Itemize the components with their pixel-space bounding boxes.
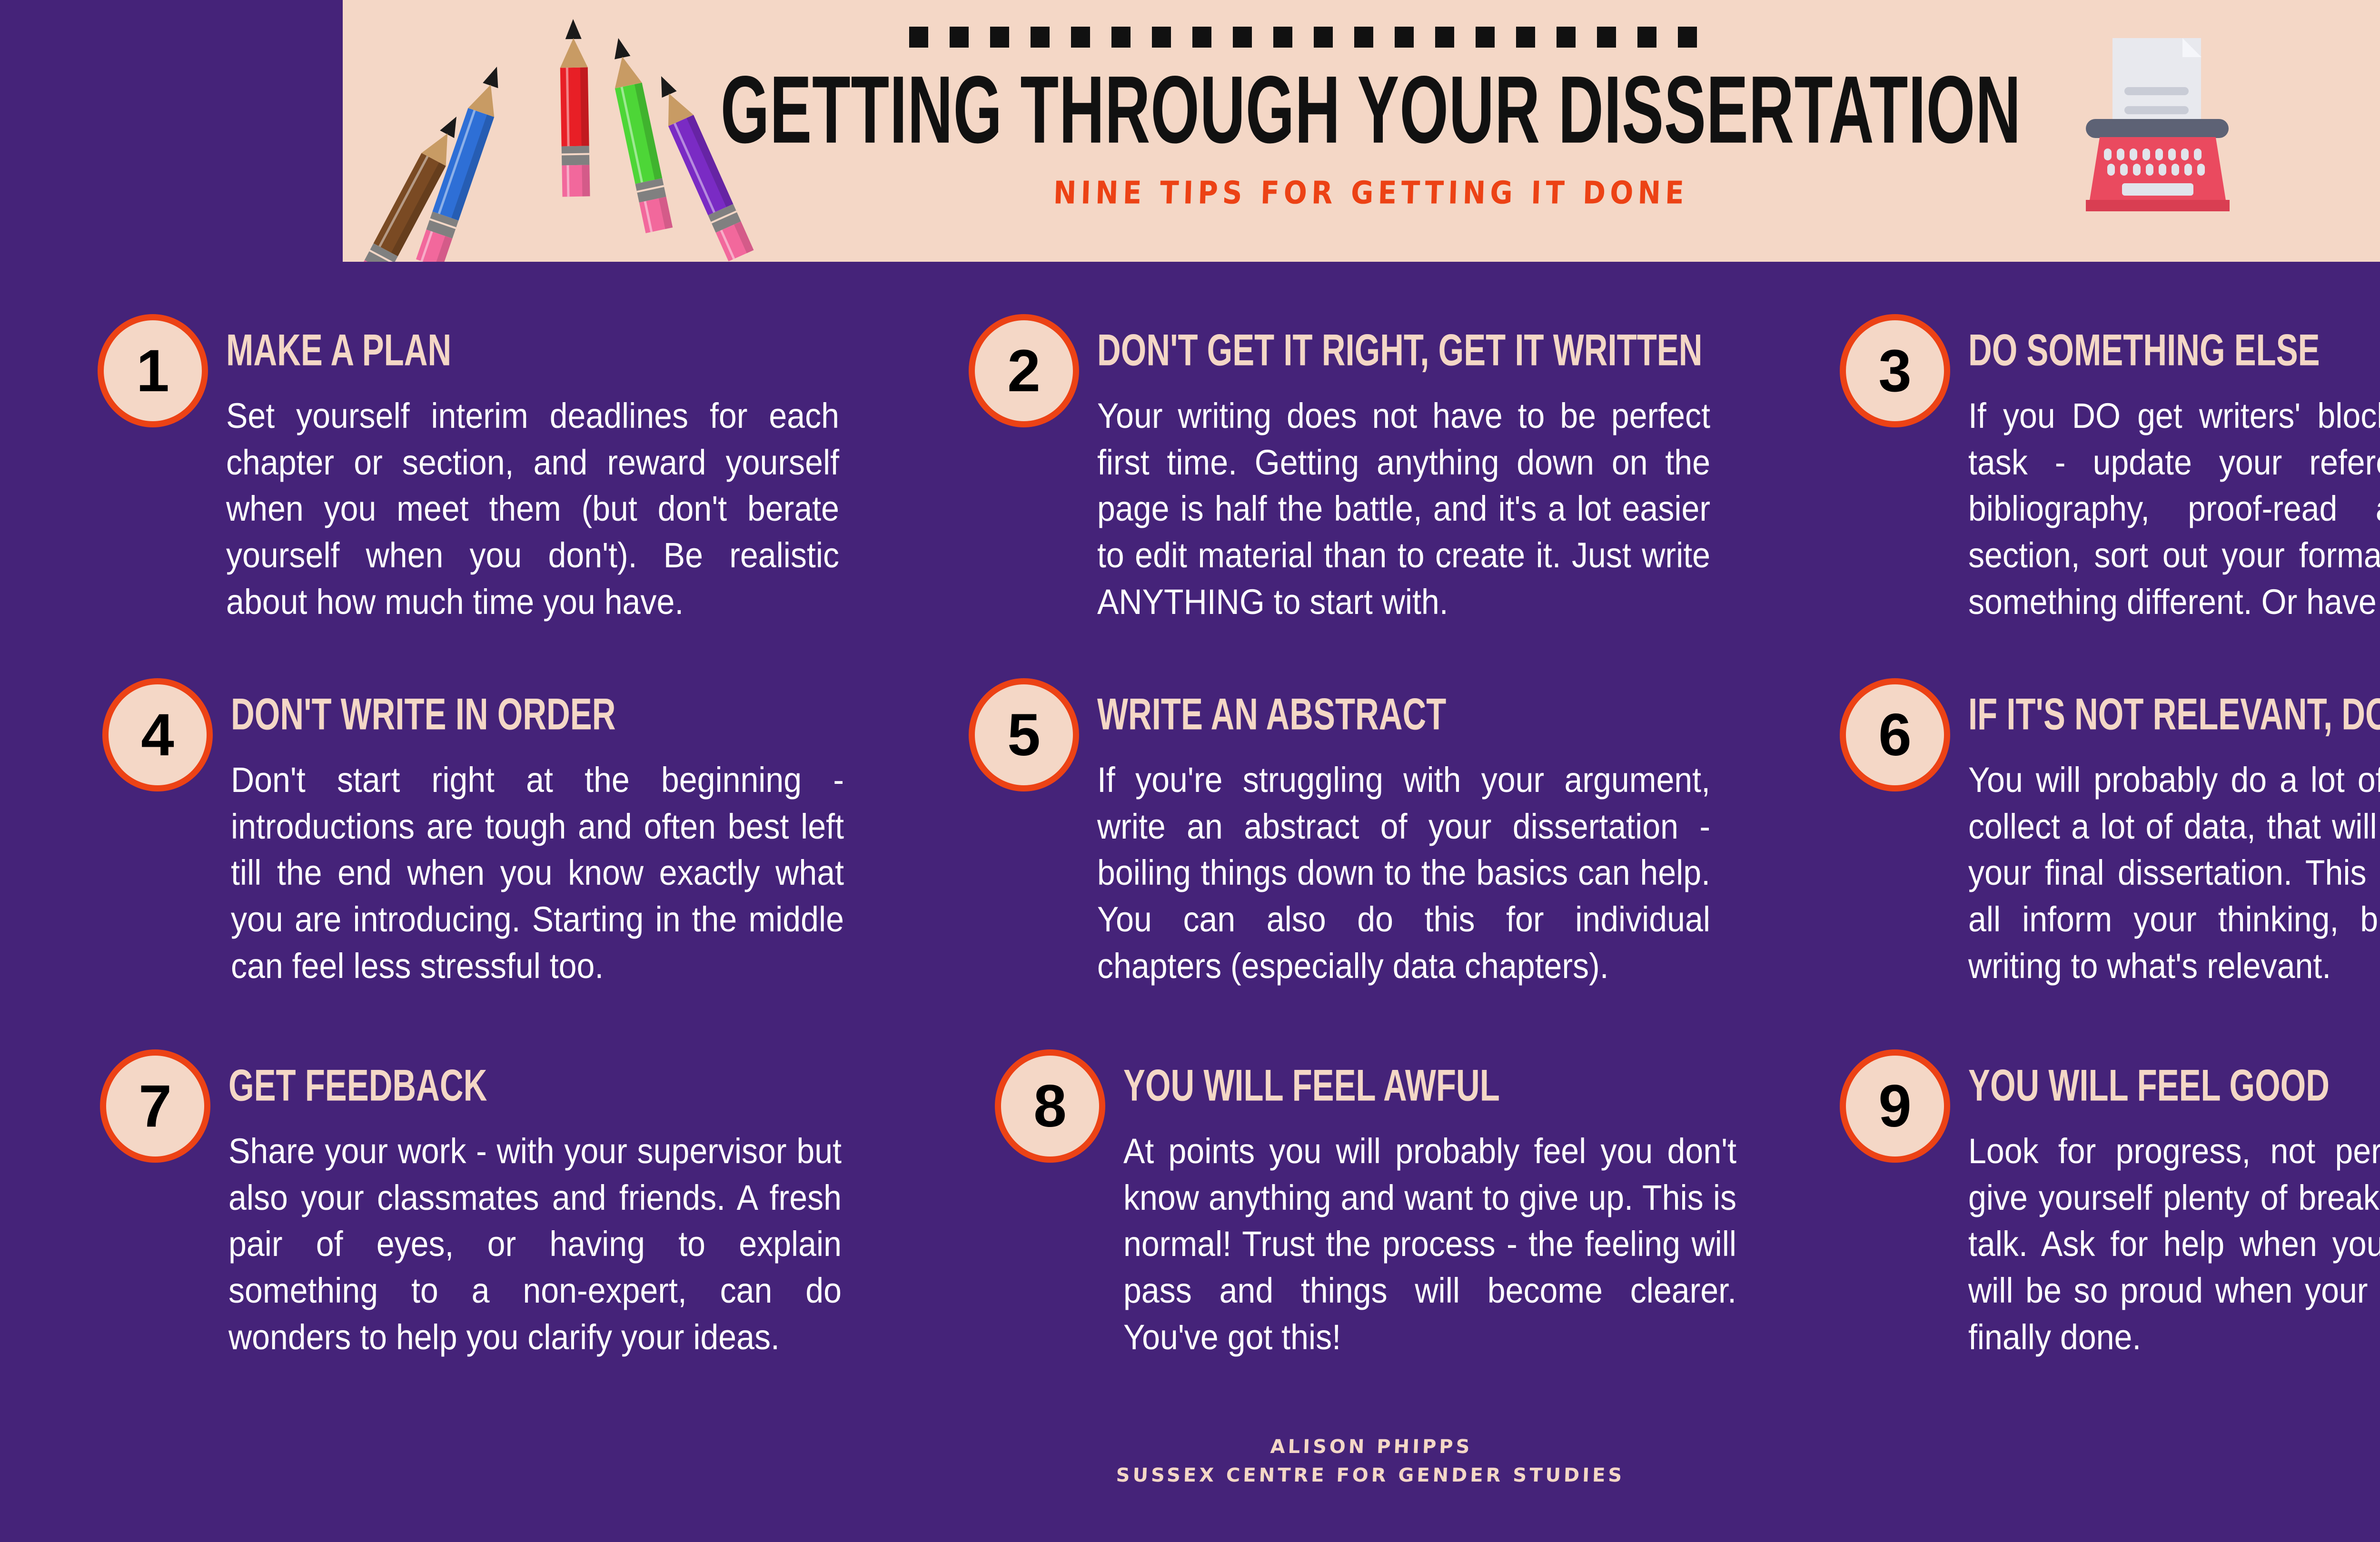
tip-body: Don't start right at the beginning - int… — [231, 757, 844, 989]
typewriter-key — [2117, 148, 2124, 160]
dash-mark — [990, 27, 1009, 48]
tip-body: You will probably do a lot of reading, a… — [1968, 757, 2380, 989]
dash-mark — [1435, 27, 1454, 48]
dash-mark — [1597, 27, 1616, 48]
tip-header: 5 WRITE AN ABSTRACT — [969, 678, 1711, 740]
tip-body: At points you will probably feel you don… — [1123, 1128, 1736, 1360]
tip-title: IF IT'S NOT RELEVANT, DON'T USE IT — [1968, 692, 2380, 737]
tip-header: 7 GET FEEDBACK — [100, 1049, 843, 1111]
typewriter-key — [2197, 164, 2205, 176]
footer-author: ALISON PHIPPS — [0, 1433, 2380, 1461]
typewriter-key — [2120, 164, 2128, 176]
tip-header: 2 DON'T GET IT RIGHT, GET IT WRITTEN — [969, 314, 1711, 376]
dash-mark — [1395, 27, 1414, 48]
typewriter-key — [2172, 164, 2179, 176]
dash-mark — [1031, 27, 1050, 48]
tip-title: DO SOMETHING ELSE — [1968, 328, 2320, 373]
dash-mark — [1678, 27, 1697, 48]
tip-card-9: 9 YOU WILL FEEL GOOD Look for progress, … — [1840, 1049, 2380, 1111]
dash-mark — [1637, 27, 1656, 48]
tip-number-badge: 7 — [100, 1049, 210, 1163]
tip-body: Your writing does not have to be perfect… — [1097, 393, 1710, 625]
dash-mark — [1192, 27, 1211, 48]
typewriter-base — [2086, 200, 2230, 211]
tip-number-badge: 2 — [969, 314, 1079, 427]
dash-mark — [1233, 27, 1252, 48]
page-subtitle: NINE TIPS FOR GETTING IT DONE — [414, 174, 2328, 211]
dash-mark — [909, 27, 928, 48]
tip-number-badge: 1 — [98, 314, 208, 427]
dash-mark — [1111, 27, 1130, 48]
tip-body: Set yourself interim deadlines for each … — [226, 393, 839, 625]
tip-card-8: 8 YOU WILL FEEL AWFUL At points you will… — [995, 1049, 1737, 1111]
typewriter-icon — [2056, 29, 2261, 233]
dash-mark — [1354, 27, 1373, 48]
tip-card-4: 4 DON'T WRITE IN ORDER Don't start right… — [102, 678, 845, 740]
footer-organisation: SUSSEX CENTRE FOR GENDER STUDIES — [0, 1461, 2380, 1490]
typewriter-key — [2155, 148, 2163, 160]
dash-mark — [1071, 27, 1090, 48]
tip-header: 6 IF IT'S NOT RELEVANT, DON'T USE IT — [1840, 678, 2380, 740]
dash-mark — [1476, 27, 1495, 48]
tip-number-badge: 5 — [969, 678, 1079, 791]
tip-title: YOU WILL FEEL GOOD — [1968, 1064, 2330, 1108]
tip-body: If you DO get writers' block, try anothe… — [1968, 393, 2380, 625]
tip-title: YOU WILL FEEL AWFUL — [1123, 1064, 1500, 1108]
tip-header: 1 MAKE A PLAN — [98, 314, 840, 376]
dash-mark — [1516, 27, 1535, 48]
dash-mark — [1273, 27, 1292, 48]
typewriter-roller — [2086, 119, 2229, 138]
tip-header: 8 YOU WILL FEEL AWFUL — [995, 1049, 1737, 1111]
dash-mark — [950, 27, 969, 48]
dash-mark — [1152, 27, 1171, 48]
tip-title: DON'T GET IT RIGHT, GET IT WRITTEN — [1097, 328, 1702, 373]
typewriter-key — [2184, 164, 2192, 176]
typewriter-key — [2107, 164, 2115, 176]
tip-body: Share your work - with your supervisor b… — [228, 1128, 842, 1360]
footer-credit: ALISON PHIPPS SUSSEX CENTRE FOR GENDER S… — [0, 1433, 2380, 1490]
typewriter-key — [2104, 148, 2112, 160]
tip-card-2: 2 DON'T GET IT RIGHT, GET IT WRITTEN You… — [969, 314, 1711, 376]
typewriter-paper-line — [2124, 106, 2189, 114]
tip-card-3: 3 DO SOMETHING ELSE If you DO get writer… — [1840, 314, 2380, 376]
typewriter-key — [2146, 164, 2153, 176]
tip-title: GET FEEDBACK — [228, 1064, 487, 1108]
typewriter-spacebar — [2122, 183, 2193, 196]
tip-body: Look for progress, not perfection - and … — [1968, 1128, 2380, 1360]
typewriter-paper-line — [2124, 87, 2189, 95]
header-banner: GETTING THROUGH YOUR DISSERTATION NINE T… — [343, 0, 2380, 262]
tip-title: MAKE A PLAN — [226, 328, 451, 373]
tip-number-badge: 8 — [995, 1049, 1105, 1163]
tip-body: If you're struggling with your argument,… — [1097, 757, 1710, 989]
tip-card-7: 7 GET FEEDBACK Share your work - with yo… — [100, 1049, 843, 1111]
tip-number-badge: 6 — [1840, 678, 1950, 791]
tip-header: 4 DON'T WRITE IN ORDER — [102, 678, 845, 740]
typewriter-key — [2133, 164, 2141, 176]
typewriter-key — [2142, 148, 2150, 160]
tip-card-6: 6 IF IT'S NOT RELEVANT, DON'T USE IT You… — [1840, 678, 2380, 740]
typewriter-key — [2194, 148, 2201, 160]
dashed-rule — [909, 27, 1697, 48]
tip-header: 3 DO SOMETHING ELSE — [1840, 314, 2380, 376]
dash-mark — [1314, 27, 1333, 48]
tip-number-badge: 3 — [1840, 314, 1950, 427]
typewriter-key — [2168, 148, 2176, 160]
tip-card-5: 5 WRITE AN ABSTRACT If you're struggling… — [969, 678, 1711, 740]
tip-card-1: 1 MAKE A PLAN Set yourself interim deadl… — [98, 314, 840, 376]
tip-title: WRITE AN ABSTRACT — [1097, 692, 1446, 737]
typewriter-key — [2181, 148, 2189, 160]
typewriter-key — [2130, 148, 2137, 160]
typewriter-key — [2159, 164, 2166, 176]
dash-mark — [1557, 27, 1576, 48]
page-title: GETTING THROUGH YOUR DISSERTATION — [548, 62, 2193, 158]
tip-number-badge: 4 — [102, 678, 213, 791]
tip-number-badge: 9 — [1840, 1049, 1950, 1163]
tip-title: DON'T WRITE IN ORDER — [231, 692, 615, 737]
tip-header: 9 YOU WILL FEEL GOOD — [1840, 1049, 2380, 1111]
